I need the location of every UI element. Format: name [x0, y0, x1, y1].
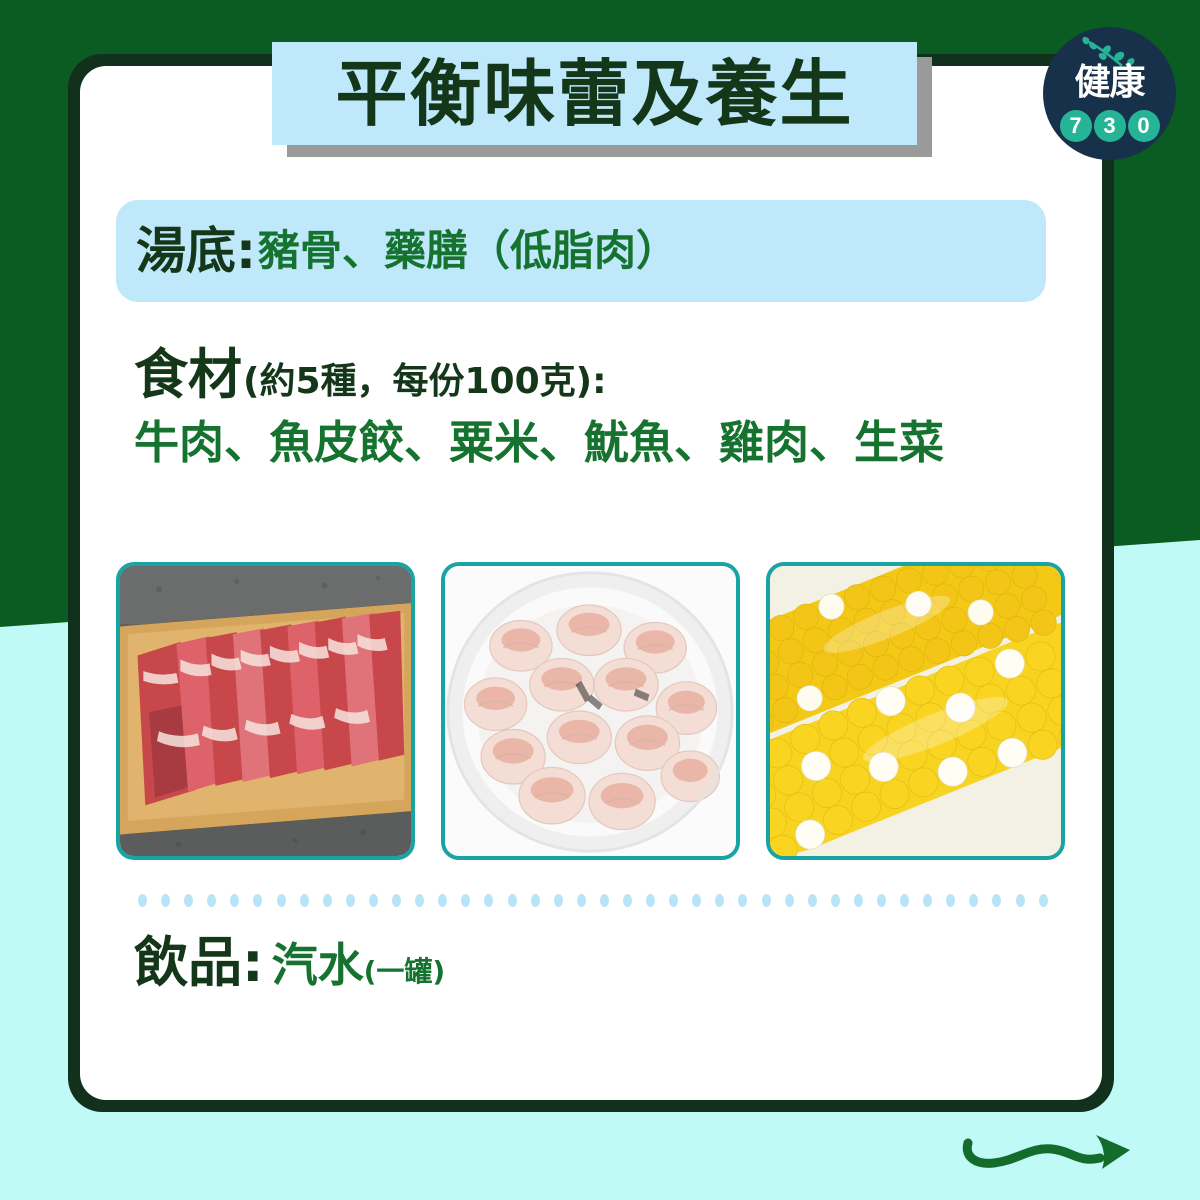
- soup-base-label: 湯底:: [136, 226, 256, 276]
- logo-digit-3: 3: [1094, 110, 1126, 142]
- logo-digit-7: 7: [1060, 110, 1092, 142]
- ingredients-heading: 食材: [134, 348, 242, 402]
- ingredients-heading-row: 食材 (約5種，每份100克):: [134, 348, 1064, 402]
- ingredients-section: 食材 (約5種，每份100克): 牛肉、魚皮餃、粟米、魷魚、雞肉、生菜: [134, 348, 1064, 468]
- page-title: 平衡味蕾及養生: [335, 58, 853, 130]
- logo-digits: 7 3 0: [1043, 110, 1176, 142]
- drink-section: 飲品: 汽水 (一罐): [134, 936, 445, 990]
- title-banner: 平衡味蕾及養生: [272, 42, 917, 145]
- fish-skin-dumplings-photo: [441, 562, 740, 860]
- corn-photo: [766, 562, 1065, 860]
- health730-logo: 健康 7 3 0: [1043, 27, 1176, 160]
- drink-note: (一罐): [364, 958, 446, 986]
- wavy-right-arrow-icon: [960, 1125, 1160, 1185]
- ingredients-list: 牛肉、魚皮餃、粟米、魷魚、雞肉、生菜: [134, 418, 1064, 468]
- photo-strip: [116, 562, 1066, 860]
- logo-wordmark: 健康: [1043, 65, 1176, 101]
- dotted-divider: [138, 893, 1048, 907]
- ingredients-subheading: (約5種，每份100克):: [243, 364, 607, 400]
- sliced-beef-photo: [116, 562, 415, 860]
- infographic-canvas: 平衡味蕾及養生 健康 7 3 0 湯底: 豬骨、藥膳（低脂肉） 食材 (約5種，…: [0, 0, 1200, 1200]
- logo-digit-0: 0: [1128, 110, 1160, 142]
- soup-base-value: 豬骨、藥膳（低脂肉）: [258, 230, 678, 272]
- drink-value: 汽水: [272, 942, 364, 988]
- soup-base-row: 湯底: 豬骨、藥膳（低脂肉）: [116, 200, 1046, 302]
- drink-label: 飲品:: [134, 936, 264, 990]
